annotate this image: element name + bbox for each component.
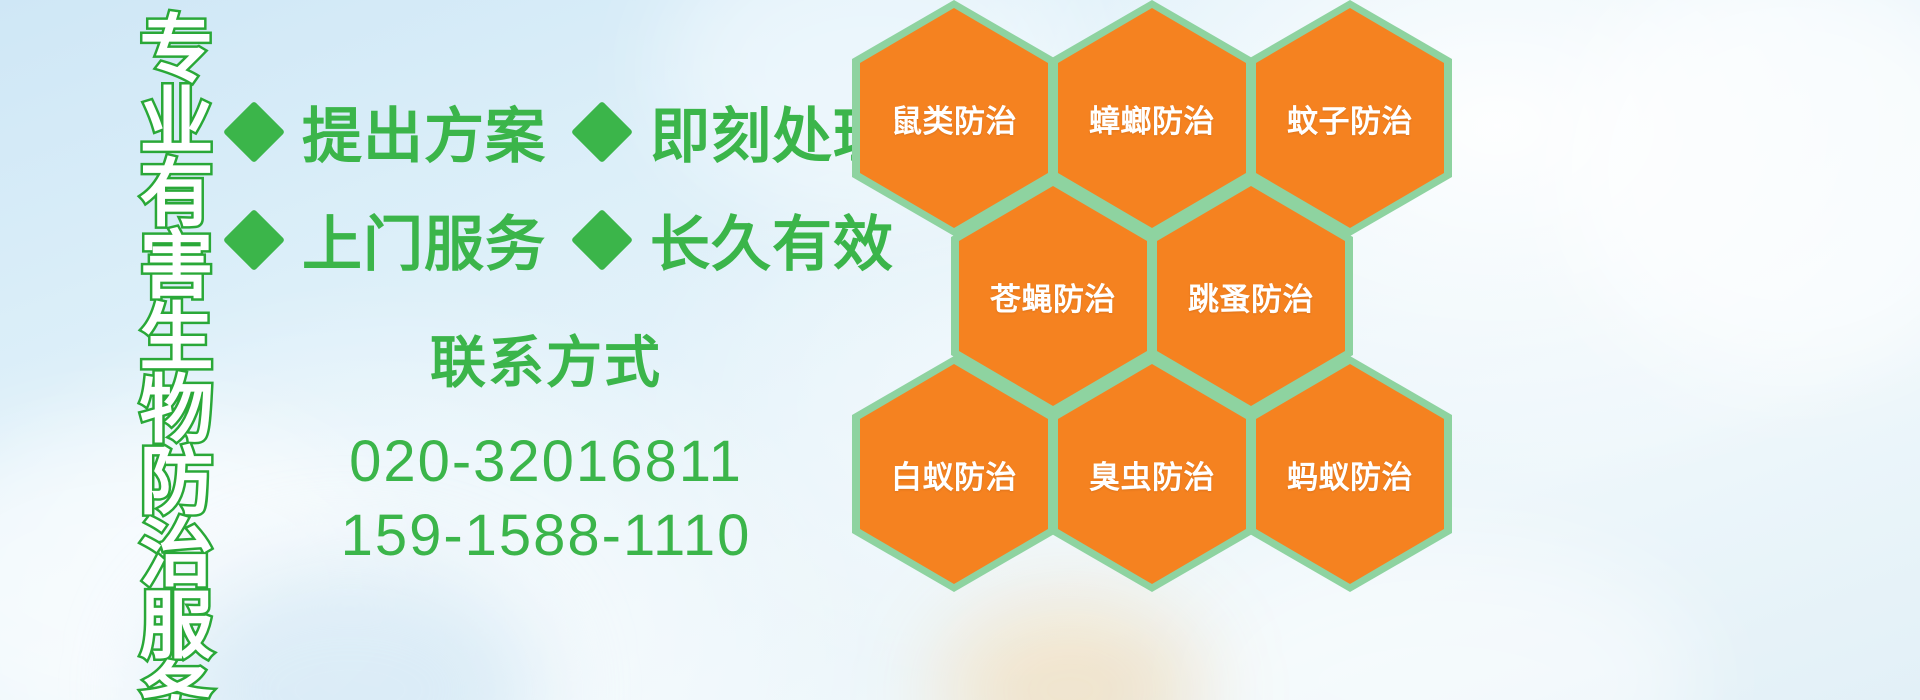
feature-label-door-to-door-service: 上门服务 (302, 196, 546, 283)
service-hex-label: 白蚁防治 (891, 452, 1017, 497)
contact-block: 联系方式 020-32016811 159-1588-1110 (286, 318, 806, 573)
background-blob (160, 560, 540, 700)
vertical-headline: 专业有害生物防治服务 (108, 10, 204, 555)
phone-mobile[interactable]: 159-1588-1110 (286, 499, 806, 573)
diamond-icon (571, 208, 633, 270)
service-hex-label: 苍蝇防治 (990, 274, 1116, 319)
service-hex-label: 蚂蚁防治 (1287, 452, 1413, 497)
diamond-icon (571, 100, 633, 162)
background-blob (1560, 0, 1920, 380)
diamond-icon (223, 208, 285, 270)
feature-row-1: 提出方案 即刻处理 (232, 88, 894, 175)
service-hex-label: 跳蚤防治 (1188, 274, 1314, 319)
diamond-icon (223, 100, 285, 162)
service-hex-label: 臭虫防治 (1089, 452, 1215, 497)
service-hexagon-grid: 鼠类防治 蟑螂防治 蚊子防治 苍蝇防治 跳蚤防治 白蚁防治 臭虫防治 蚂 (848, 0, 1468, 700)
feature-row-2: 上门服务 长久有效 (232, 196, 894, 283)
contact-label: 联系方式 (286, 318, 806, 399)
phone-landline[interactable]: 020-32016811 (286, 425, 806, 499)
service-hex-label: 鼠类防治 (891, 96, 1017, 141)
promo-banner: 专业有害生物防治服务 提出方案 即刻处理 上门服务 长久有效 联系方式 020-… (0, 0, 1920, 700)
feature-label-propose-plan: 提出方案 (302, 88, 546, 175)
service-hex-label: 蟑螂防治 (1089, 96, 1215, 141)
service-hex-label: 蚊子防治 (1287, 96, 1413, 141)
